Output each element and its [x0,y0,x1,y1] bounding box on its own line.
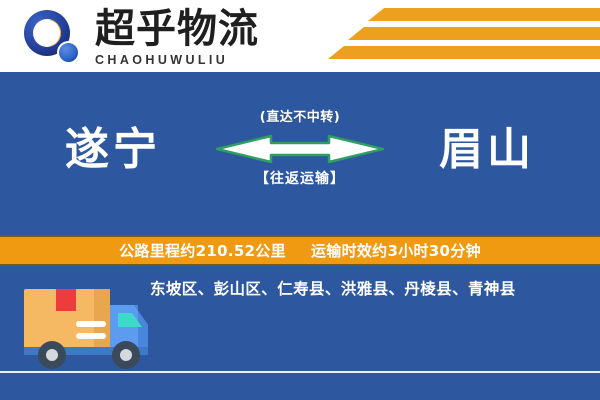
logo-dot-icon [57,41,80,64]
direct-service-note: (直达不中转) [205,110,395,126]
roundtrip-note: 【往返运输】 [205,170,395,188]
brand-name-en: CHAOHUWULIU [95,52,275,68]
bidirectional-arrow-icon [213,132,387,166]
origin-city: 遂宁 [18,122,208,178]
route-middle: (直达不中转) 【往返运输】 [205,110,395,188]
brand-name-cn: 超乎物流 [95,8,275,50]
coverage-districts: 东坡区、彭山区、仁寿县、洪雅县、丹棱县、青神县 [150,278,590,300]
route-info-bar: 公路里程约210.52公里 运输时效约3小时30分钟 [0,235,600,266]
brand-text: 超乎物流 CHAOHUWULIU [95,8,275,68]
header-stripe-2 [348,27,600,40]
coverage-band: 东坡区、彭山区、仁寿县、洪雅县、丹棱县、青神县 [0,266,600,400]
road-line-decoration [0,371,600,373]
route-band: 遂宁 (直达不中转) 【往返运输】 眉山 [0,72,600,235]
destination-city: 眉山 [392,122,582,178]
brand-logo-icon [24,10,82,62]
logo-crescent-mask-icon [36,20,60,46]
logistics-route-poster: 超乎物流 CHAOHUWULIU 遂宁 (直达不中转) 【往返运输】 眉山 公路… [0,0,600,400]
route-info-text: 公路里程约210.52公里 运输时效约3小时30分钟 [119,240,481,261]
header-stripes-decoration [310,8,600,66]
header-stripe-3 [328,46,600,59]
duration-text: 运输时效约3小时30分钟 [311,242,481,260]
distance-text: 公路里程约210.52公里 [119,242,286,260]
delivery-truck-icon [22,275,154,373]
header-stripe-1 [368,8,600,21]
header: 超乎物流 CHAOHUWULIU [0,0,600,72]
